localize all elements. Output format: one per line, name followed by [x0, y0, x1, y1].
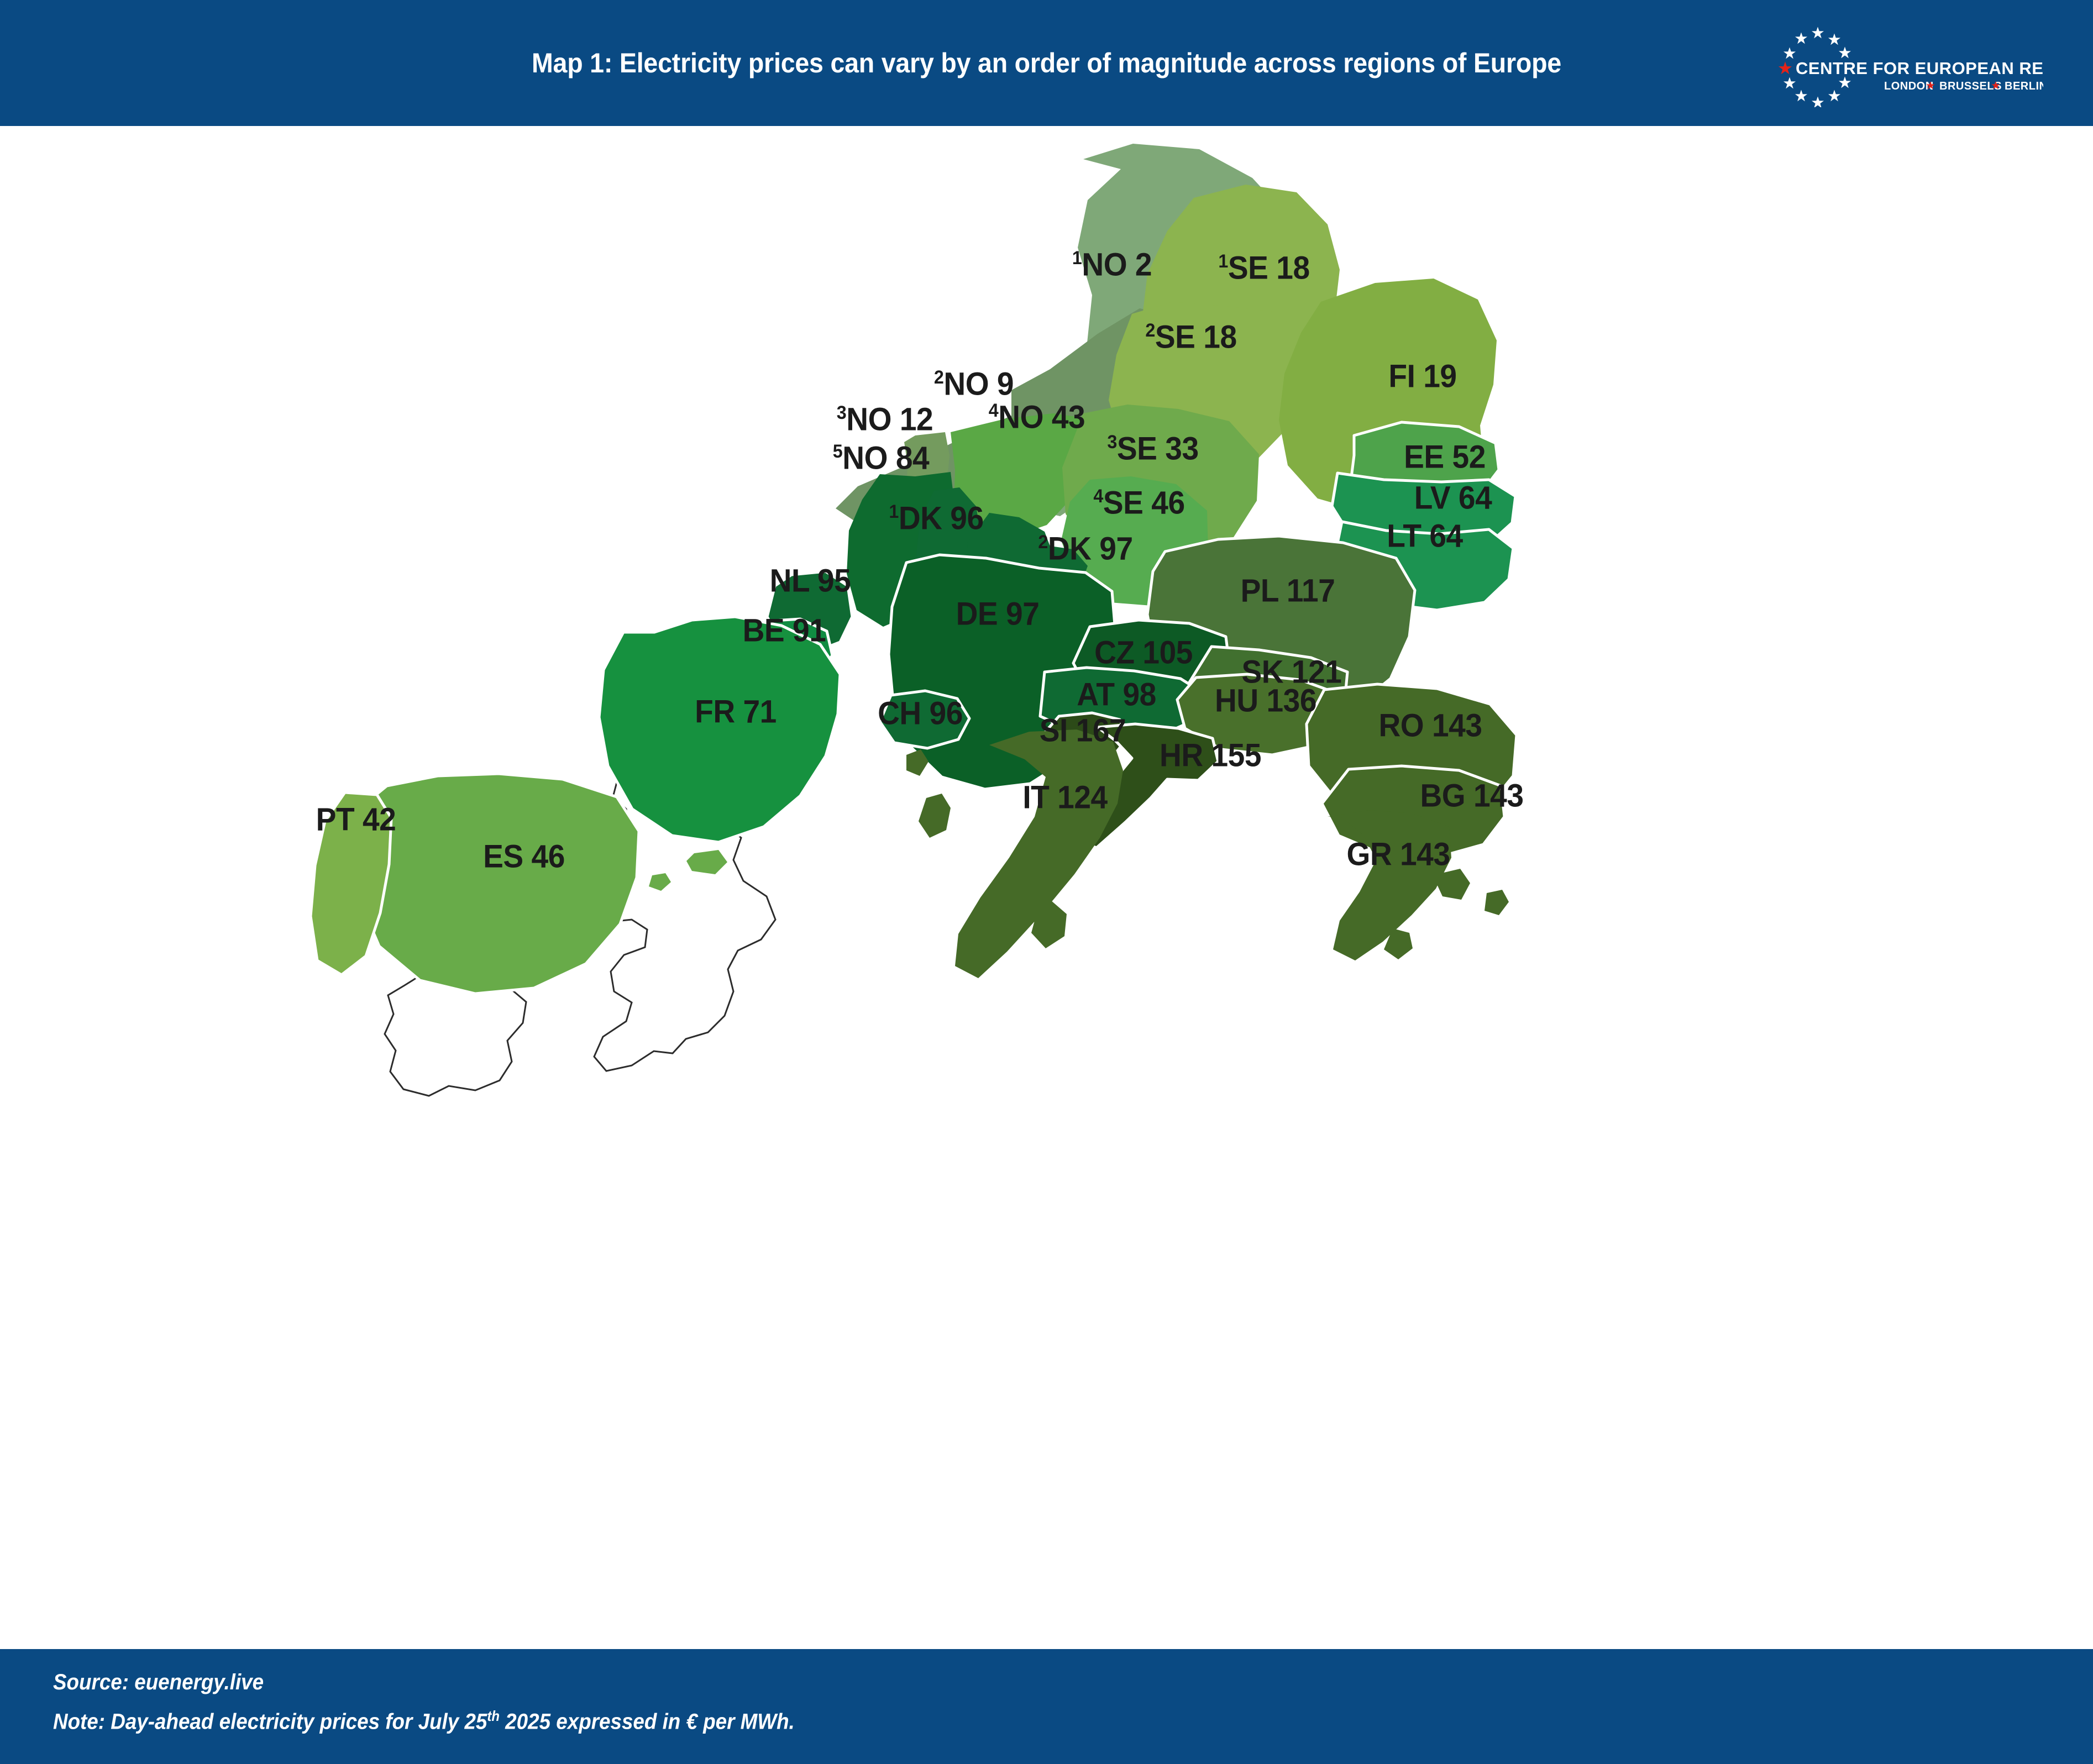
note-prefix: Note: Day-ahead electricity prices for J… [53, 1709, 487, 1734]
red-star-icon [1779, 61, 1792, 74]
europe-choropleth-map: 1NO 2 1SE 18 2SE 18 FI 19 2NO 9 3NO 12 4… [0, 126, 2093, 1649]
svg-text:BERLIN: BERLIN [2005, 80, 2043, 92]
source-text: Source: euenergy.live [53, 1670, 264, 1695]
footer-bar: Source: euenergy.live Note: Day-ahead el… [0, 1649, 2093, 1764]
note-ordinal: th [487, 1708, 500, 1724]
map-svg [0, 126, 2093, 1649]
cer-logo: CENTRE FOR EUROPEAN REFORM LONDON BRUSSE… [1767, 18, 2043, 107]
svg-text:BRUSSELS: BRUSSELS [1939, 80, 2002, 92]
logo-name: CENTRE FOR EUROPEAN REFORM [1796, 59, 2043, 78]
page-title: Map 1: Electricity prices can vary by an… [74, 0, 2020, 126]
header-bar: Map 1: Electricity prices can vary by an… [0, 0, 2093, 126]
region-ch [880, 691, 969, 748]
note-text: Note: Day-ahead electricity prices for J… [53, 1708, 795, 1734]
region-es [355, 774, 639, 994]
region-fr [599, 617, 840, 842]
map-page: Map 1: Electricity prices can vary by an… [0, 0, 2093, 1764]
note-suffix: 2025 expressed in € per MWh. [500, 1709, 795, 1734]
svg-text:LONDON: LONDON [1884, 80, 1934, 92]
